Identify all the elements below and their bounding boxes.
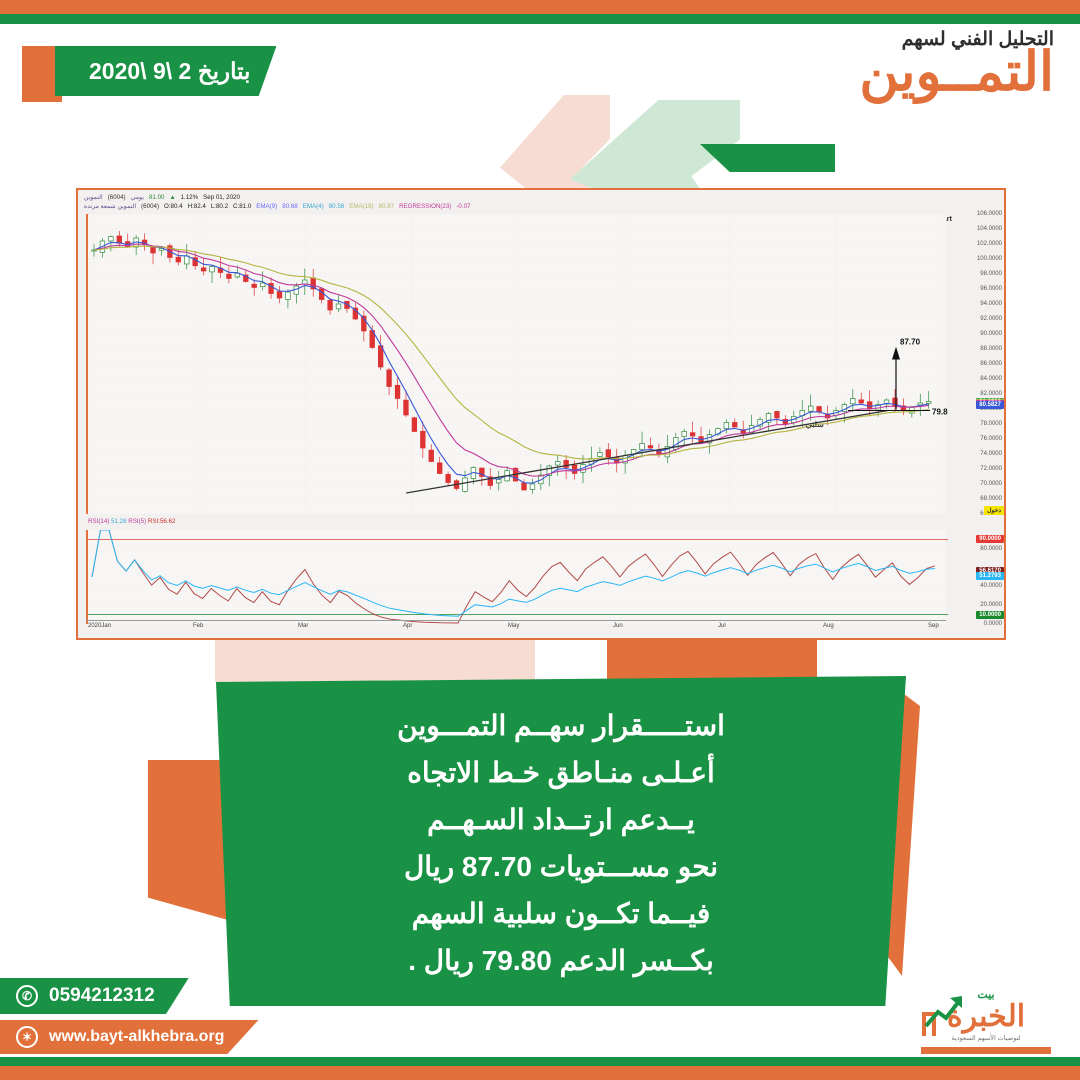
price-tag: 80.5827 (976, 401, 1004, 409)
x-tick: Sep (928, 623, 939, 629)
ema4-value: 80.58 (329, 203, 344, 210)
decor-block-orange-left (148, 760, 228, 920)
analysis-message-line: أعـلـى منـاطق خـط الاتجاه (260, 749, 862, 796)
analysis-message-line: استـــــقرار سهــم التمـــوين (260, 702, 862, 749)
growth-arrow-icon (920, 992, 966, 1040)
chart-symbol-code: (6004) (108, 194, 126, 201)
ema18-value: 80.87 (379, 203, 394, 210)
website-badge[interactable]: ✶ www.bayt-alkhebra.org (0, 1020, 258, 1054)
ema18-label: EMA(18) (349, 203, 373, 210)
rsi-header: RSI(14) 51.28 RSI(5) RSI:56.62 (88, 518, 175, 525)
page-title: التمــوين (859, 45, 1054, 100)
svg-text:79.80: 79.80 (932, 407, 948, 416)
price-tick: 84.0000 (980, 376, 1002, 382)
rsi-axis: 90.000080.000040.000020.000010.00000.000… (948, 530, 1006, 624)
analysis-message-line: يــدعم ارتــداد السـهــم (260, 796, 862, 843)
x-tick: Apr (403, 623, 412, 629)
regression-value: -0.07 (456, 203, 470, 210)
price-chart-svg: 87.7079.80سلبي (88, 214, 948, 514)
price-tick: 74.0000 (980, 451, 1002, 457)
chart-timeframe: يومي (131, 194, 144, 201)
chart-change-pct: 1.12% (181, 194, 199, 201)
rsi-tick: 0.0000 (984, 621, 1002, 627)
chart-header: التموين(6004)يومي81.00▲1.12%Sep 01, 2020… (84, 193, 998, 211)
price-tick: 96.0000 (980, 286, 1002, 292)
price-tick: 92.0000 (980, 316, 1002, 322)
price-tick: 70.0000 (980, 481, 1002, 487)
regression-label: REGRESSION(23) (399, 203, 451, 210)
chart-header-line-1: التموين(6004)يومي81.00▲1.12%Sep 01, 2020 (84, 193, 998, 202)
brand-underline (921, 1047, 1051, 1054)
price-axis: 106.0000104.0000102.0000100.000098.00009… (948, 214, 1006, 514)
analysis-message-line: نحو مســـتويات 87.70 ريال (260, 843, 862, 890)
x-tick: Mar (298, 623, 308, 629)
analysis-message-line: بكــسر الدعم 79.80 ريال . (260, 937, 862, 984)
date-badge: بتاريخ 2 \9 \2020 (55, 46, 276, 96)
whatsapp-contact-badge[interactable]: ✆ 0594212312 (0, 978, 189, 1014)
rsi-tag: 10.0000 (976, 611, 1004, 619)
top-green-bar (0, 14, 1080, 24)
analysis-message-line: فيــما تكــون سلبية السهم (260, 890, 862, 937)
whatsapp-number: 0594212312 (49, 985, 155, 1007)
rsi-tick: 80.0000 (980, 546, 1002, 552)
rsi-tick: 40.0000 (980, 583, 1002, 589)
chart-code-2: (6004) (141, 203, 159, 210)
price-tick: 76.0000 (980, 436, 1002, 442)
chart-header-line-2: التموين شمعة مرتدة(6004)O:80.4H:82.4L:80… (84, 202, 998, 211)
price-tick: 68.0000 (980, 496, 1002, 502)
decor-green-tab (700, 144, 835, 172)
rsi-tick: 20.0000 (980, 602, 1002, 608)
x-tick: Jul (718, 623, 726, 629)
price-tag: دخول (984, 506, 1004, 515)
price-tick: 104.0000 (977, 226, 1002, 232)
chart-card: التموين(6004)يومي81.00▲1.12%Sep 01, 2020… (76, 188, 1006, 640)
ohlc-low: L:80.2 (211, 203, 228, 210)
top-orange-bar (0, 0, 1080, 14)
header-title-group: التحليل الفني لسهم التمــوين (859, 30, 1054, 100)
svg-text:سلبي: سلبي (806, 420, 825, 429)
analysis-message-panel: استـــــقرار سهــم التمـــوينأعـلـى منـا… (216, 676, 906, 1006)
x-tick: Aug (823, 623, 834, 629)
price-tick: 90.0000 (980, 331, 1002, 337)
rsi-chart-svg (88, 530, 948, 624)
ema9-value: 80.68 (282, 203, 297, 210)
ema4-label: EMA(4) (303, 203, 324, 210)
price-tick: 100.0000 (977, 256, 1002, 262)
brand-logo: بيت الخبرة لتوصيات الأسهم السعودية (916, 990, 1056, 1055)
chart-symbol-ar: التموين (84, 194, 103, 201)
chart-date: Sep 01, 2020 (203, 194, 240, 201)
whatsapp-icon: ✆ (16, 985, 38, 1007)
chart-last-price: 81.00 (149, 194, 164, 201)
rsi-tag: 51.2793 (976, 572, 1004, 580)
bottom-green-bar (0, 1057, 1080, 1066)
x-tick: 2020Jan (88, 623, 111, 629)
globe-icon: ✶ (16, 1026, 38, 1048)
price-tick: 72.0000 (980, 466, 1002, 472)
rsi5-value: RSI:56.62 (148, 518, 176, 525)
x-tick: May (508, 623, 519, 629)
bottom-orange-bar (0, 1066, 1080, 1080)
x-tick: Feb (193, 623, 203, 629)
ohlc-open: O:80.4 (164, 203, 183, 210)
price-tick: 102.0000 (977, 241, 1002, 247)
decor-block-orange (607, 640, 817, 682)
decor-block-pink (215, 640, 535, 682)
price-tick: 88.0000 (980, 346, 1002, 352)
rsi5-label: RSI(5) (128, 518, 146, 525)
chart-pattern-label: التموين شمعة مرتدة (84, 203, 136, 210)
price-tick: 98.0000 (980, 271, 1002, 277)
x-axis: 2020JanFebMarAprMayJunJulAugSep (86, 620, 946, 632)
rsi-tag: 90.0000 (976, 535, 1004, 543)
ohlc-high: H:82.4 (188, 203, 206, 210)
up-arrow-icon: ▲ (169, 194, 175, 201)
rsi-chart-pane (86, 530, 946, 624)
ema9-label: EMA(9) (256, 203, 277, 210)
ohlc-close: C:81.0 (233, 203, 251, 210)
price-tick: 94.0000 (980, 301, 1002, 307)
website-url: www.bayt-alkhebra.org (49, 1028, 224, 1046)
rsi14-value: 51.28 (111, 518, 126, 525)
rsi14-label: RSI(14) (88, 518, 109, 525)
price-tick: 78.0000 (980, 421, 1002, 427)
price-chart-pane: 87.7079.80سلبي (86, 214, 946, 514)
svg-text:87.70: 87.70 (900, 338, 921, 347)
price-tick: 82.0000 (980, 391, 1002, 397)
analysis-message-text: استـــــقرار سهــم التمـــوينأعـلـى منـا… (216, 702, 906, 984)
price-tick: 106.0000 (977, 211, 1002, 217)
price-tick: 86.0000 (980, 361, 1002, 367)
x-tick: Jun (613, 623, 623, 629)
